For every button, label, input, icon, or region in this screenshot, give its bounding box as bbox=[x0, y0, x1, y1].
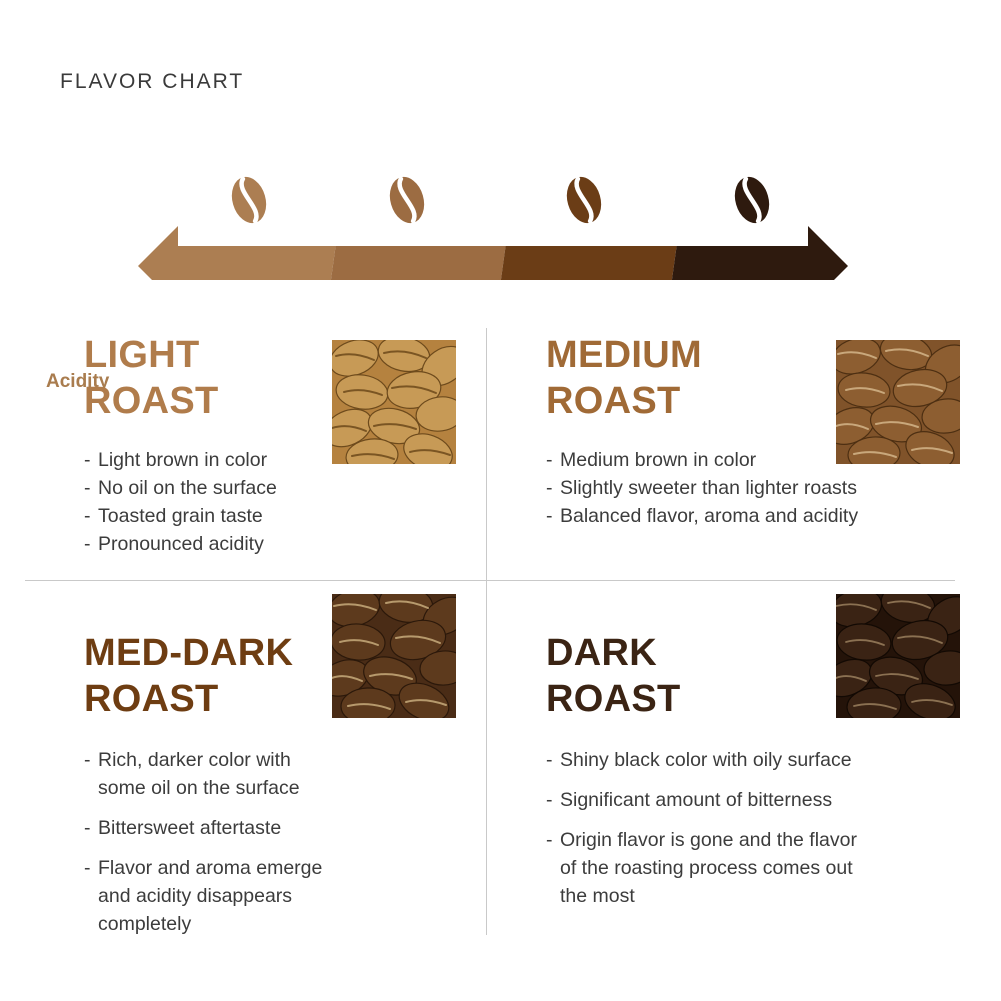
bullet-marker: - bbox=[84, 446, 98, 474]
bullet-marker: - bbox=[546, 502, 560, 530]
bullet-marker: - bbox=[84, 530, 98, 558]
bullet-text: Slightly sweeter than lighter roasts bbox=[560, 474, 857, 502]
roast-scale: Acidity Bitterness LIGHT MEDIUM MED-DARK… bbox=[0, 160, 1001, 280]
med-dark-roast-bullets: -Rich, darker color with some oil on the… bbox=[84, 746, 444, 938]
roast-scale-arrow bbox=[0, 160, 1001, 280]
list-item: -Flavor and aroma emerge and acidity dis… bbox=[84, 854, 444, 938]
list-item: -Bittersweet aftertaste bbox=[84, 814, 444, 842]
bullet-marker: - bbox=[84, 746, 98, 774]
bullet-text: No oil on the surface bbox=[98, 474, 277, 502]
list-item: -Toasted grain taste bbox=[84, 502, 444, 530]
bullet-text: Balanced flavor, aroma and acidity bbox=[560, 502, 858, 530]
bullet-text: Toasted grain taste bbox=[98, 502, 263, 530]
bullet-text: Rich, darker color with some oil on the … bbox=[98, 746, 300, 802]
bullet-marker: - bbox=[84, 814, 98, 842]
list-item: -Balanced flavor, aroma and acidity bbox=[546, 502, 966, 530]
bean-marker-med-dark bbox=[559, 170, 610, 230]
bullet-marker: - bbox=[84, 474, 98, 502]
bullet-text: Shiny black color with oily surface bbox=[560, 746, 852, 774]
bullet-text: Medium brown in color bbox=[560, 446, 756, 474]
bullet-text: Light brown in color bbox=[98, 446, 267, 474]
bullet-text: Origin flavor is gone and the flavor of … bbox=[560, 826, 857, 910]
flavor-chart-page: FLAVOR CHART bbox=[0, 0, 1001, 1001]
quadrant-divider-vertical bbox=[486, 328, 487, 935]
bullet-text: Significant amount of bitterness bbox=[560, 786, 832, 814]
list-item: -Shiny black color with oily surface bbox=[546, 746, 966, 774]
bullet-text: Bittersweet aftertaste bbox=[98, 814, 281, 842]
light-roast-bean-photo bbox=[332, 340, 456, 464]
bean-marker-light bbox=[224, 170, 275, 230]
bullet-marker: - bbox=[546, 826, 560, 854]
list-item: -Significant amount of bitterness bbox=[546, 786, 966, 814]
bullet-marker: - bbox=[84, 502, 98, 530]
bean-markers bbox=[224, 170, 778, 230]
list-item: -Rich, darker color with some oil on the… bbox=[84, 746, 444, 802]
dark-roast-bean-photo bbox=[836, 594, 960, 718]
list-item: -Pronounced acidity bbox=[84, 530, 444, 558]
bullet-text: Pronounced acidity bbox=[98, 530, 264, 558]
dark-roast-bullets: -Shiny black color with oily surface-Sig… bbox=[546, 746, 966, 910]
bullet-marker: - bbox=[546, 474, 560, 502]
bullet-marker: - bbox=[546, 786, 560, 814]
bullet-marker: - bbox=[84, 854, 98, 882]
quadrant-divider-horizontal bbox=[25, 580, 955, 581]
medium-roast-bean-photo bbox=[836, 340, 960, 464]
bullet-text: Flavor and aroma emerge and acidity disa… bbox=[98, 854, 322, 938]
list-item: -Origin flavor is gone and the flavor of… bbox=[546, 826, 966, 910]
list-item: -No oil on the surface bbox=[84, 474, 444, 502]
list-item: -Slightly sweeter than lighter roasts bbox=[546, 474, 966, 502]
bean-marker-medium bbox=[382, 170, 433, 230]
bullet-marker: - bbox=[546, 746, 560, 774]
bean-marker-dark bbox=[727, 170, 778, 230]
bullet-marker: - bbox=[546, 446, 560, 474]
page-title: FLAVOR CHART bbox=[60, 70, 244, 94]
med-dark-roast-bean-photo bbox=[332, 594, 456, 718]
